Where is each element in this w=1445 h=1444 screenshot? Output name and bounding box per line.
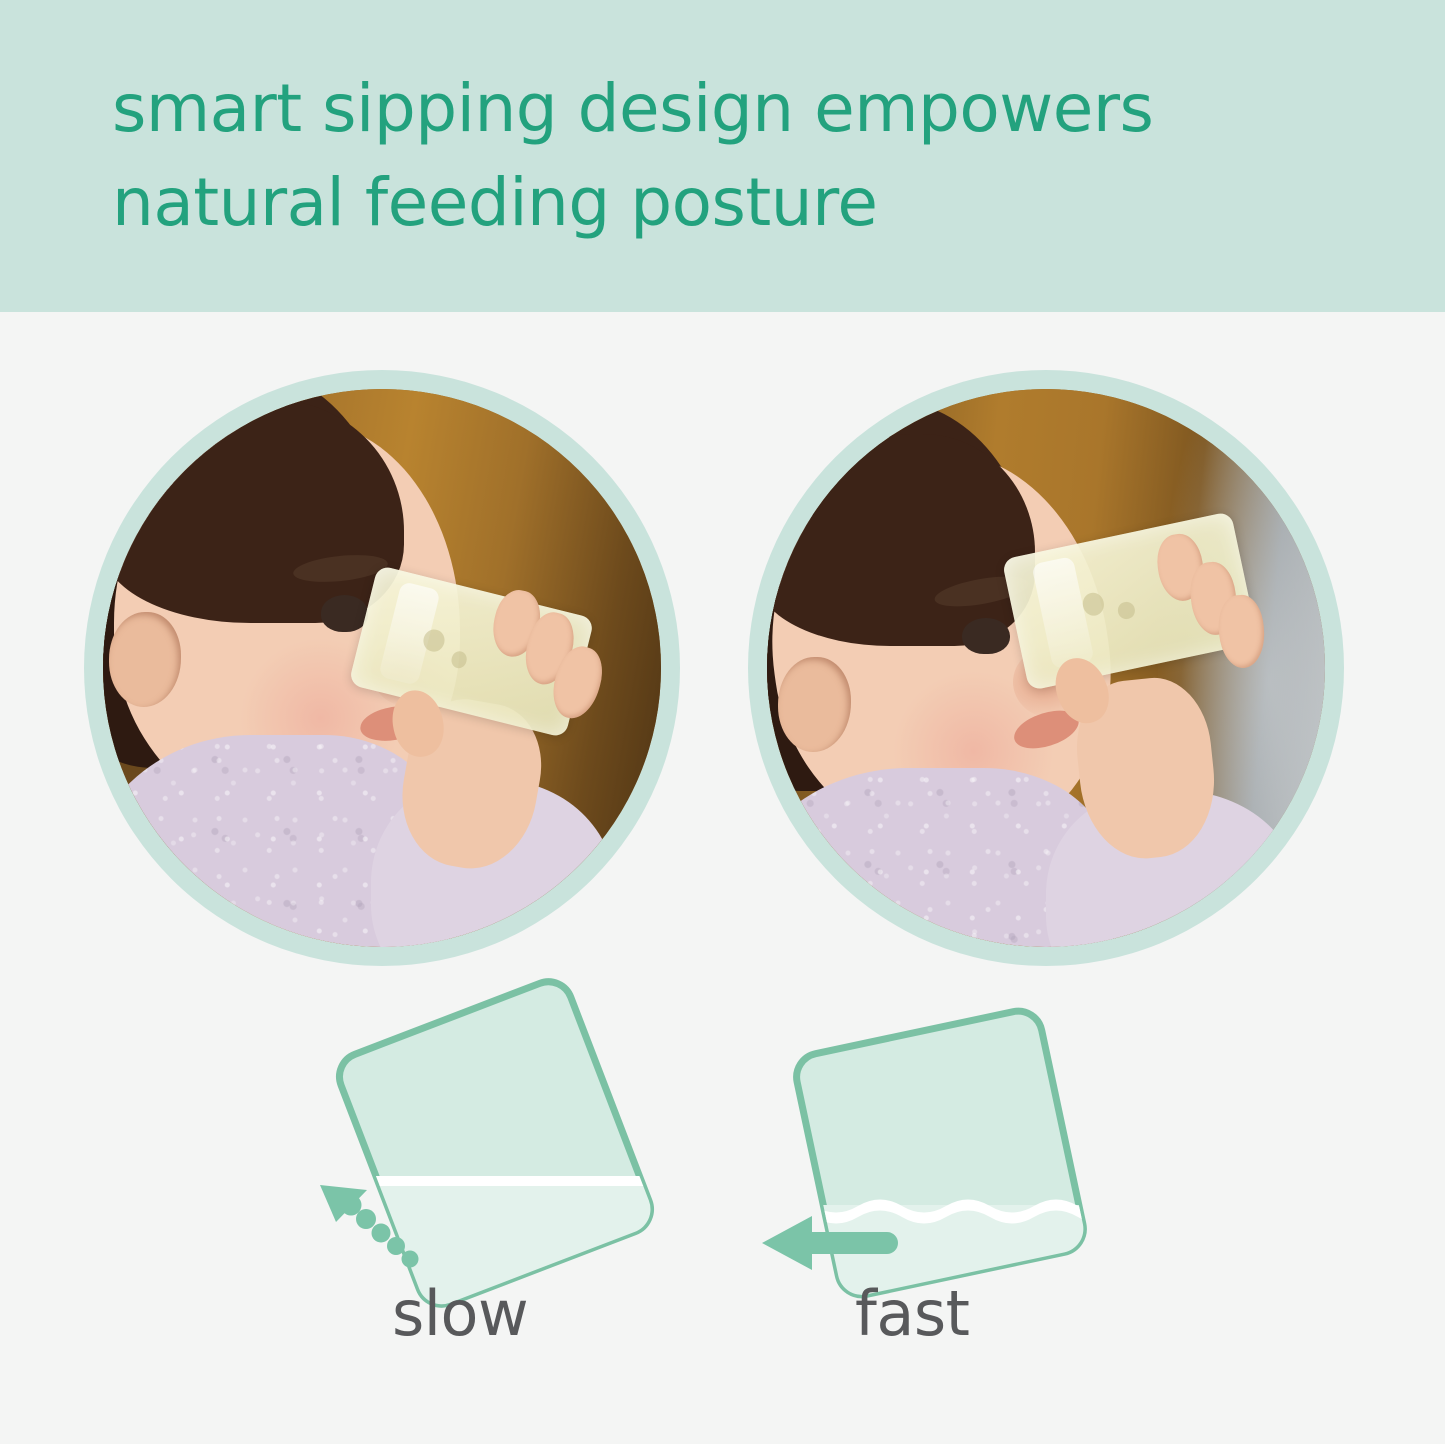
diagram-captions: slow fast	[0, 1283, 1445, 1373]
baby-drinking-slow-scene	[103, 389, 661, 947]
ear	[778, 657, 851, 752]
eye	[962, 618, 1009, 654]
slow-arrow-dot	[341, 1195, 362, 1216]
slow-arrow-dot	[402, 1251, 419, 1268]
caption-slow: slow	[392, 1283, 528, 1345]
bottle-angle-diagrams	[0, 990, 1445, 1320]
photo-left-circle	[84, 370, 680, 966]
caption-fast: fast	[855, 1283, 969, 1345]
slow-liquid-level-line	[330, 1176, 670, 1186]
bottle-marking	[449, 649, 468, 669]
photo-comparison-row	[0, 370, 1445, 970]
bottle-marking	[1116, 601, 1136, 621]
fast-arrow-head	[762, 1216, 812, 1270]
photo-left-image	[103, 389, 661, 947]
diagram-canvas	[0, 990, 1445, 1320]
baby-drinking-fast-scene	[767, 389, 1325, 947]
header-band: smart sipping design empowers natural fe…	[0, 0, 1445, 312]
slow-arrow-dot	[356, 1209, 376, 1229]
page-title: smart sipping design empowers natural fe…	[112, 62, 1372, 249]
eye	[321, 595, 368, 631]
slow-arrow-dot	[387, 1237, 405, 1255]
bottle-highlight	[1031, 556, 1095, 670]
slow-arrow-dot	[372, 1224, 391, 1243]
photo-right-circle	[748, 370, 1344, 966]
photo-right-image	[767, 389, 1325, 947]
